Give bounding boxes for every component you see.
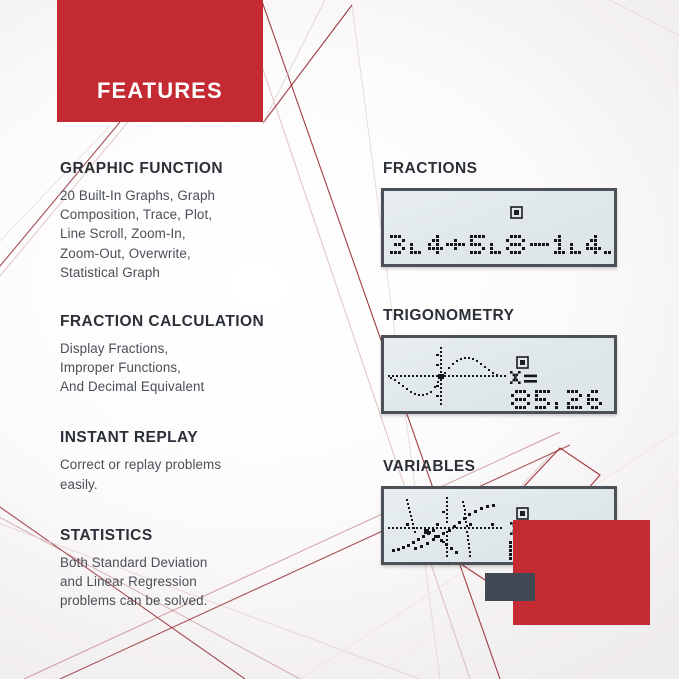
- feature-title: FRACTIONS: [383, 160, 617, 177]
- lcd-content-fractions: [384, 191, 614, 264]
- feature-title: INSTANT REPLAY: [60, 429, 360, 446]
- feature-graphic-function: GRAPHIC FUNCTION 20 Built-In Graphs, Gra…: [60, 160, 360, 282]
- features-banner-label: FEATURES: [97, 78, 223, 104]
- feature-body: Both Standard Deviation and Linear Regre…: [60, 553, 360, 610]
- spacer: [60, 396, 360, 429]
- feature-fractions: FRACTIONS: [381, 160, 617, 267]
- deg-indicator-icon: [517, 508, 528, 519]
- sine-graph-plot: [388, 347, 506, 405]
- feature-body: Correct or replay problems easily.: [60, 455, 360, 493]
- lcd-expression-glyphs: [390, 235, 611, 254]
- lcd-value-glyphs: [511, 390, 602, 409]
- deg-indicator-icon: [517, 357, 528, 368]
- feature-instant-replay: INSTANT REPLAY Correct or replay problem…: [60, 429, 360, 493]
- lcd-screen-trigonometry: [381, 335, 617, 414]
- feature-body: Display Fractions, Improper Functions, A…: [60, 339, 360, 396]
- poster-canvas: FEATURES GRAPHIC FUNCTION 20 Built-In Gr…: [0, 0, 679, 679]
- feature-title: GRAPHIC FUNCTION: [60, 160, 360, 177]
- features-banner: FEATURES: [57, 0, 263, 122]
- feature-body: 20 Built-In Graphs, Graph Composition, T…: [60, 186, 360, 282]
- feature-title: STATISTICS: [60, 527, 360, 544]
- left-feature-column: GRAPHIC FUNCTION 20 Built-In Graphs, Gra…: [60, 160, 360, 610]
- feature-title: FRACTION CALCULATION: [60, 313, 360, 330]
- scatter-lines-plot: [388, 497, 502, 557]
- x-equals-label: [510, 371, 537, 384]
- feature-trigonometry: TRIGONOMETRY: [381, 307, 617, 414]
- feature-title: TRIGONOMETRY: [383, 307, 617, 324]
- feature-title: VARIABLES: [383, 458, 617, 475]
- spacer: [60, 494, 360, 527]
- lcd-screen-fractions: [381, 188, 617, 267]
- lcd-content-trigonometry: [384, 338, 614, 411]
- spacer: [60, 282, 360, 313]
- feature-statistics: STATISTICS Both Standard Deviation and L…: [60, 527, 360, 611]
- deg-indicator-icon: [511, 207, 522, 218]
- feature-fraction-calculation: FRACTION CALCULATION Display Fractions, …: [60, 313, 360, 397]
- decor-gray-block: [485, 573, 535, 601]
